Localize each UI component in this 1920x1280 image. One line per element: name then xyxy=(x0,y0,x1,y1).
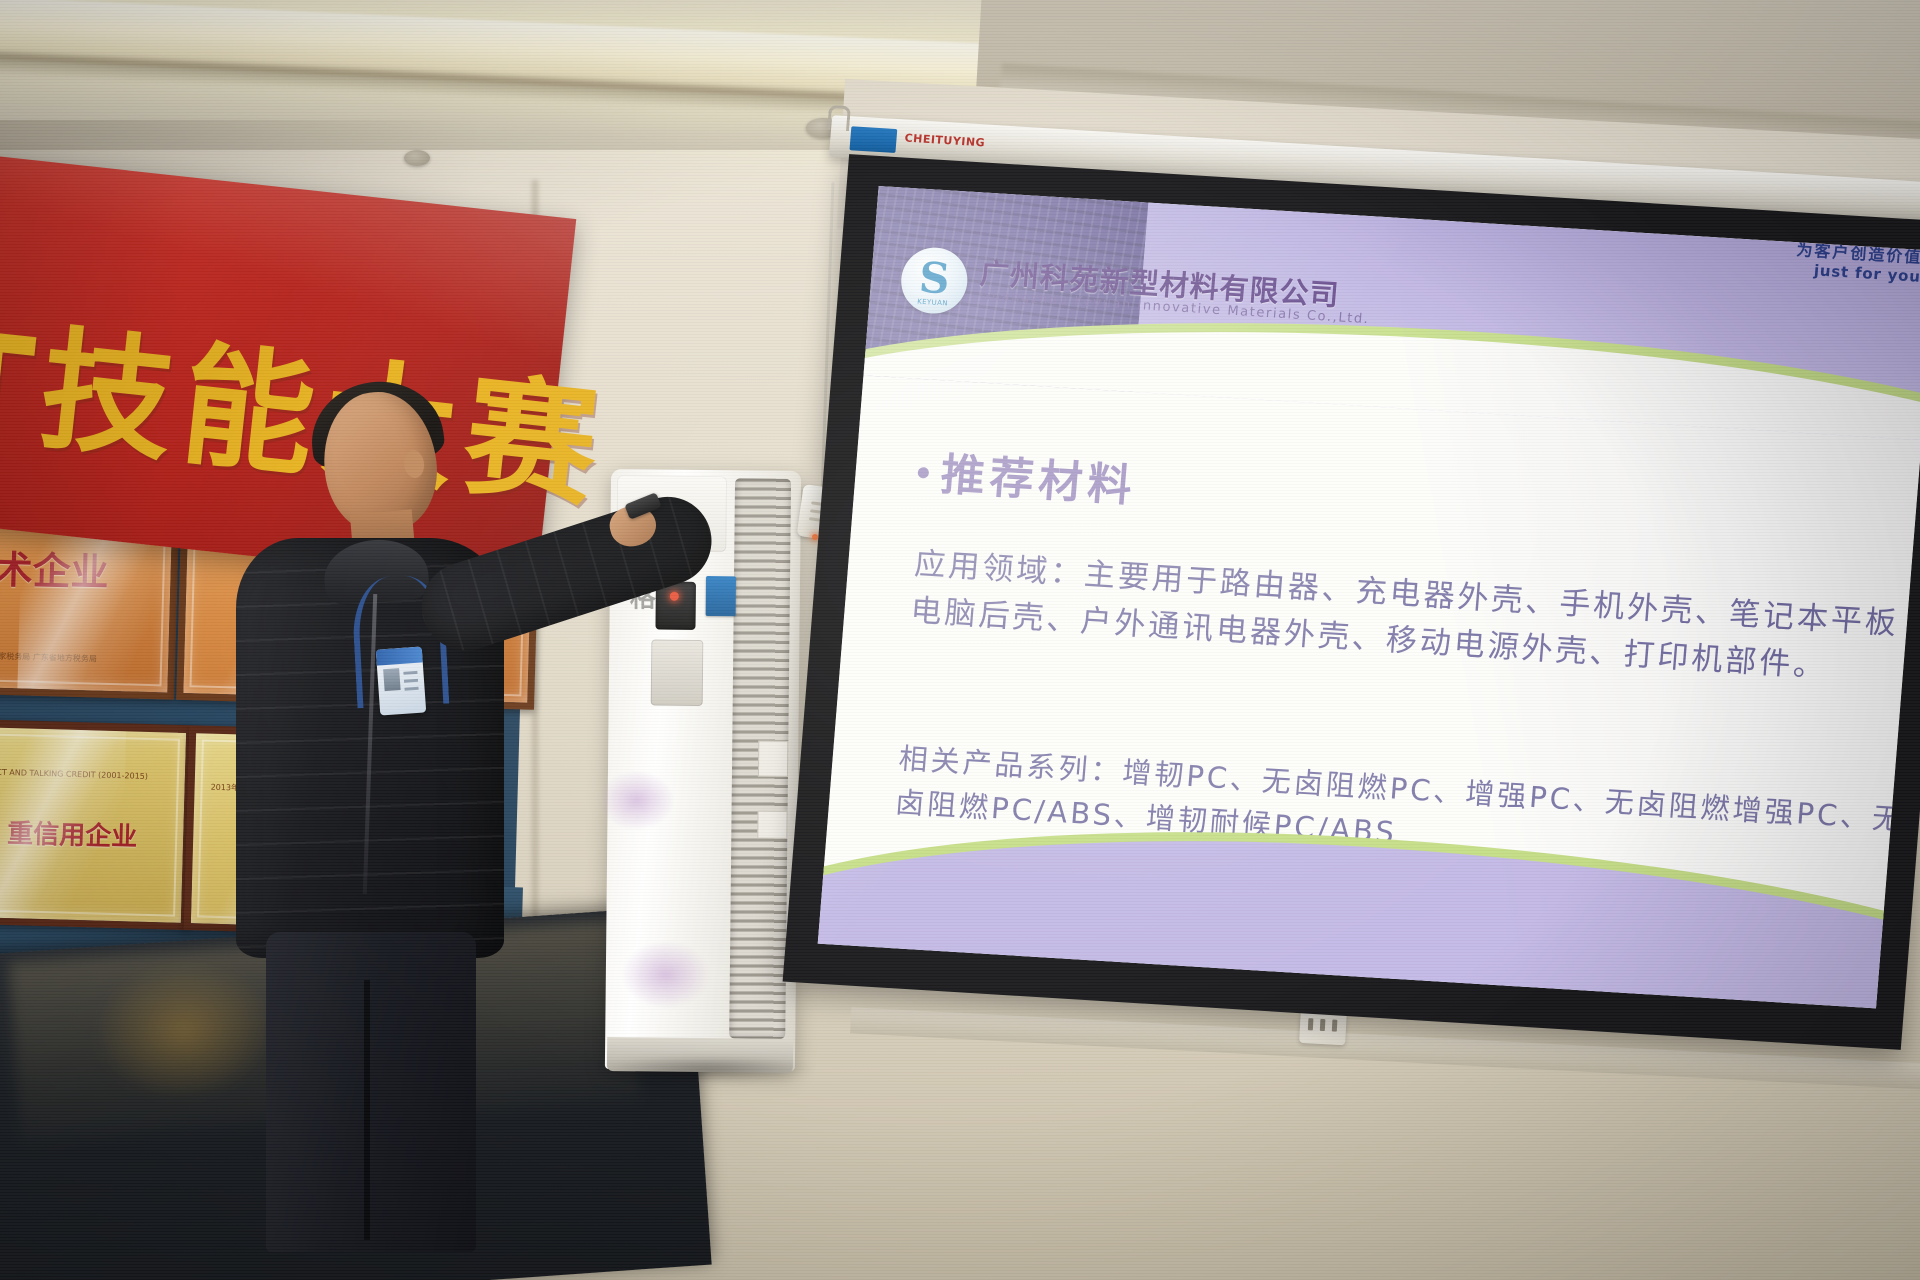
presenter: 12 xyxy=(228,380,648,1080)
plaque-item: 重信用企业 CONTRACT AND TALKING CREDIT (2001-… xyxy=(0,719,193,930)
badge-header-strip xyxy=(376,646,423,665)
photo-scene: 术企业 广东省国家税务局 广东省地方税务局 诚信企业 花都区“诚招天下客 促进新… xyxy=(0,0,1920,1280)
slide-bullet-title: 推荐材料 xyxy=(916,437,1140,514)
presenter-id-badge xyxy=(376,646,426,715)
slide-application-paragraph: 应用领域：主要用于路由器、充电器外壳、手机外壳、笔记本平板电脑后壳、户外通讯电器… xyxy=(909,541,1920,697)
trouser-seam xyxy=(364,980,370,1240)
badge-text-line xyxy=(404,687,418,691)
ac-control-panel[interactable] xyxy=(651,639,704,706)
plaque-title: 重信用企业 xyxy=(7,813,138,854)
badge-text-line xyxy=(403,671,417,675)
bullet-dot-icon xyxy=(917,466,929,478)
screen-surface: S KEYUAN 广州科苑新型材料有限公司 Guangzhou Keyuan I… xyxy=(818,186,1920,1008)
screen-hook-icon xyxy=(827,105,851,131)
badge-text-line xyxy=(404,679,418,683)
ac-label-sticker-2 xyxy=(757,811,787,839)
screen-case-sticker xyxy=(849,126,897,153)
presentation-slide: S KEYUAN 广州科苑新型材料有限公司 Guangzhou Keyuan I… xyxy=(818,186,1920,1008)
badge-photo xyxy=(383,668,400,691)
ac-label-sticker xyxy=(758,741,788,777)
bullet-title-text: 推荐材料 xyxy=(939,449,1139,512)
plate-led-icon xyxy=(812,534,818,540)
projection-screen: CHEITUYING S KEYUAN 广州科苑新型材料有限公司 Guangzh… xyxy=(938,150,1920,1106)
power-led-icon xyxy=(670,592,679,601)
plaque-title: 术企业 xyxy=(0,539,109,597)
presenter-trousers xyxy=(266,932,476,1252)
ac-energy-sticker xyxy=(706,576,736,616)
